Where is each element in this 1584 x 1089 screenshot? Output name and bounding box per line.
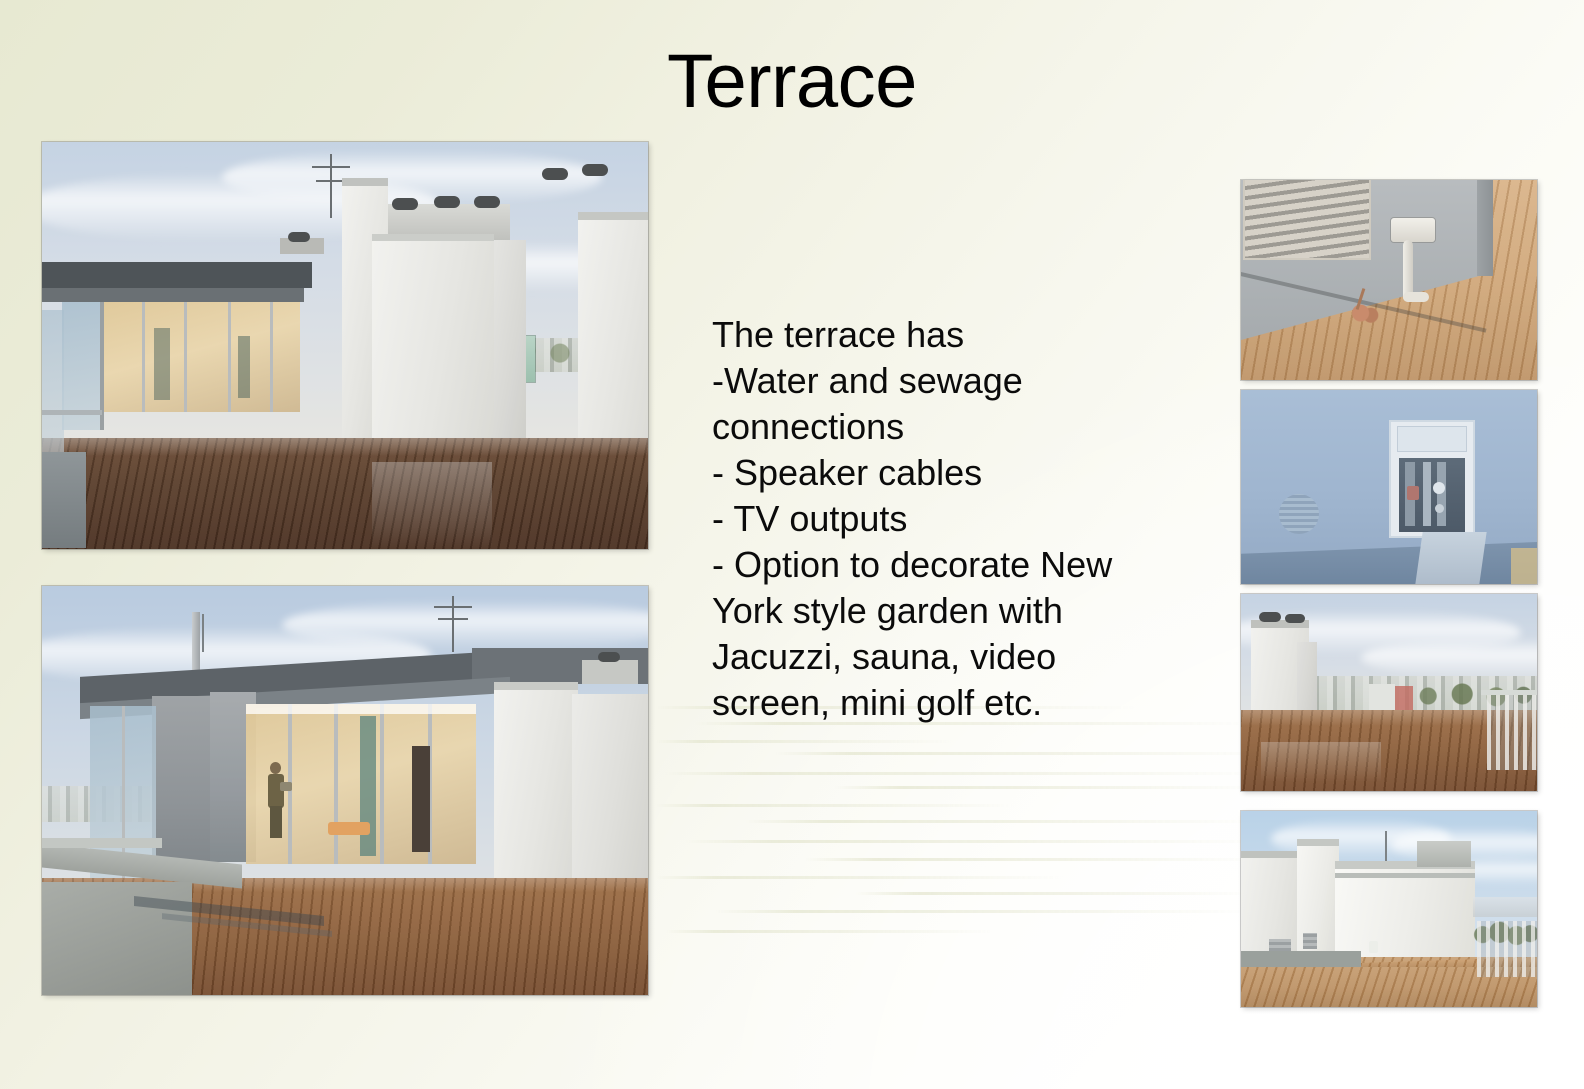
utility-cabinet-photo (1241, 390, 1537, 584)
rooftop-terrace-parapets-photo (42, 142, 648, 549)
slide-canvas: Terrace The terrace has -Water and sewag… (0, 0, 1584, 1089)
terrace-features-text: The terrace has -Water and sewage connec… (712, 312, 1182, 726)
decorative-streaks (655, 700, 1275, 950)
terrace-city-view-photo (1241, 594, 1537, 791)
water-sewage-connection-photo (1241, 180, 1537, 380)
rooftop-terrace-penthouse-photo (42, 586, 648, 995)
empty-terrace-photo (1241, 811, 1537, 1007)
page-title: Terrace (0, 44, 1584, 120)
